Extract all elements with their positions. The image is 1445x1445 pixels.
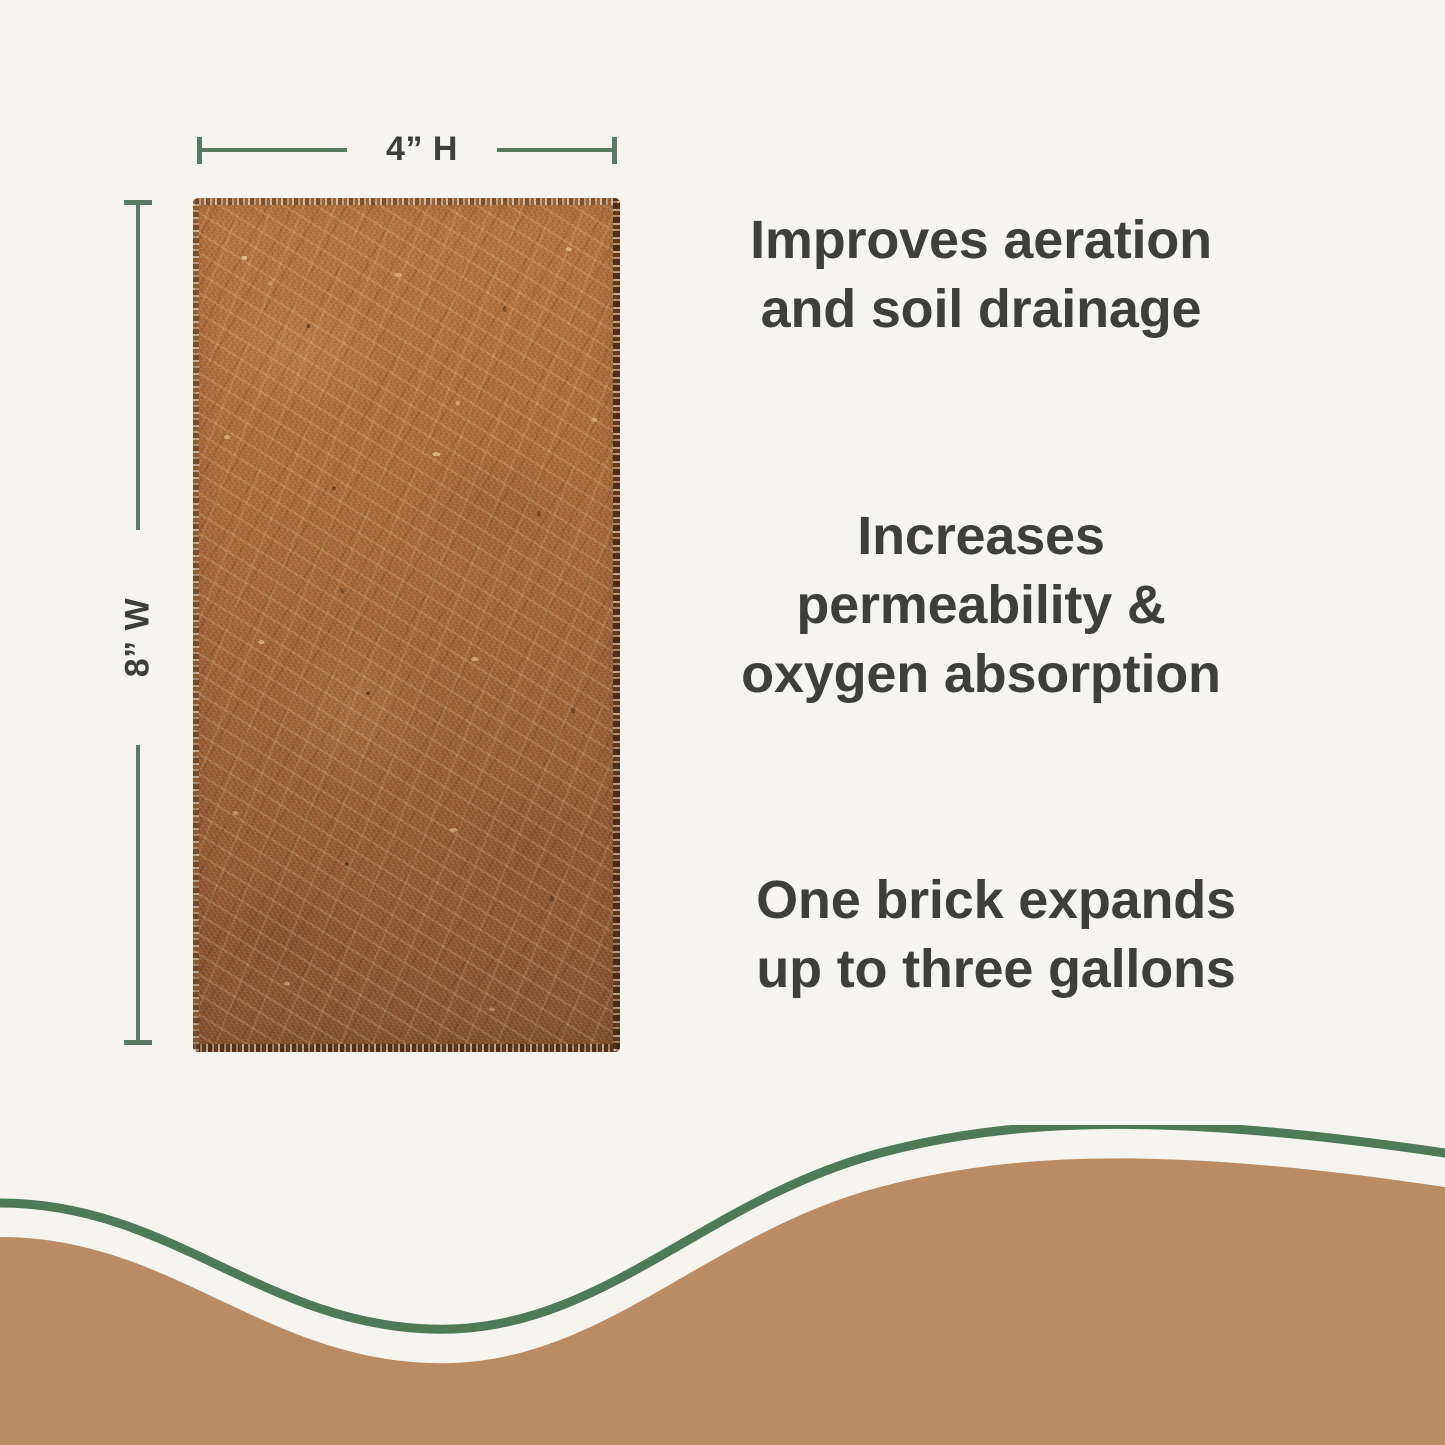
horizontal-dimension-label: 4” H: [347, 124, 497, 174]
brick-edge-right: [613, 198, 620, 1052]
feature-line: up to three gallons: [666, 935, 1326, 1004]
brick-texture-speckle: [193, 198, 620, 1052]
feature-line: permeability &: [666, 571, 1296, 640]
feature-one-brick-expands: One brick expands up to three gallons: [666, 866, 1326, 1004]
dimension-cap-right: [612, 137, 617, 164]
dimension-bar-left: [197, 148, 347, 152]
brick-edge-top: [193, 198, 620, 205]
coco-coir-brick-image: [193, 198, 620, 1052]
wave-fill-shape: [0, 1158, 1445, 1445]
dimension-cap-bottom: [124, 1040, 152, 1045]
feature-increases-permeability: Increases permeability & oxygen absorpti…: [666, 502, 1296, 709]
brick-edge-left: [193, 198, 199, 1052]
brick-edge-bottom: [193, 1044, 620, 1052]
feature-improves-aeration: Improves aeration and soil drainage: [666, 206, 1296, 344]
feature-line: One brick expands: [666, 866, 1326, 935]
feature-line: Improves aeration: [666, 206, 1296, 275]
product-infographic: 4” H 8” W Improves aeration and soil dra…: [0, 0, 1445, 1445]
dimension-bar-right: [497, 148, 617, 152]
decorative-wave: [0, 1125, 1445, 1445]
dimension-bar-bottom: [136, 745, 140, 1045]
feature-line: and soil drainage: [666, 275, 1296, 344]
feature-line: oxygen absorption: [666, 640, 1296, 709]
dimension-bar-top: [136, 200, 140, 530]
feature-line: Increases: [666, 502, 1296, 571]
